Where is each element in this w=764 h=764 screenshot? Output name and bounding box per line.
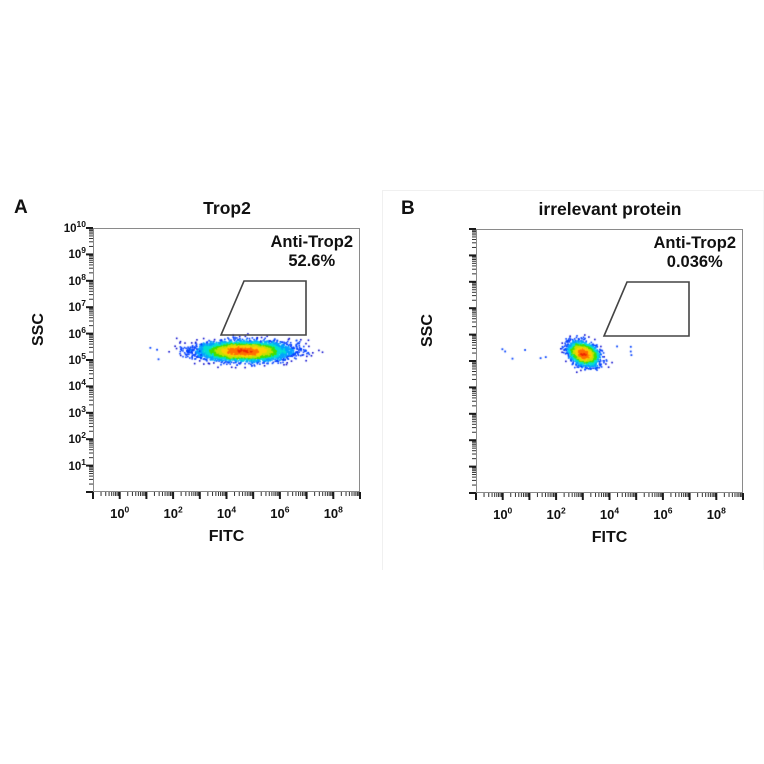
panel-b-annotation-value: 0.036% — [654, 253, 737, 272]
panel-a-annotation-label: Anti-Trop2 — [271, 233, 354, 252]
panel-a-plot-area[interactable]: Anti-Trop2 52.6% — [93, 228, 360, 492]
panel-b-plot-area[interactable]: Anti-Trop2 0.036% — [476, 229, 743, 493]
panel-a-y-axis-title: SSC — [30, 313, 48, 346]
panel-a-letter: A — [14, 197, 28, 219]
panel-b-annotation-label: Anti-Trop2 — [654, 234, 737, 253]
x-tick-label: 102 — [546, 507, 565, 522]
x-tick-label: 104 — [217, 506, 236, 521]
panel-b-y-axis-title: SSC — [419, 314, 437, 347]
panel-b-title: irrelevant protein — [476, 199, 744, 220]
x-tick-label: 102 — [163, 506, 182, 521]
x-axis-tick-marks — [0, 492, 382, 512]
panel-a-x-axis-title: FITC — [93, 528, 360, 546]
panel-a: A Trop2 1011021031041051061071081091010 … — [0, 190, 382, 570]
y-axis-tick-marks — [383, 191, 480, 503]
panel-a-annotation-value: 52.6% — [271, 252, 354, 271]
x-tick-label: 104 — [600, 507, 619, 522]
x-tick-label: 100 — [110, 506, 129, 521]
panel-b-letter: B — [401, 198, 415, 220]
panel-a-title: Trop2 — [93, 198, 361, 219]
y-axis-tick-marks — [0, 190, 97, 502]
x-tick-label: 106 — [270, 506, 289, 521]
x-tick-label: 108 — [707, 507, 726, 522]
panel-b-gate-polygon[interactable] — [604, 282, 689, 336]
panel-b: B irrelevant protein 1011021031041051061… — [382, 190, 764, 570]
panel-a-gate-polygon[interactable] — [221, 281, 306, 335]
x-tick-label: 106 — [653, 507, 672, 522]
panel-a-annotation: Anti-Trop2 52.6% — [271, 233, 354, 272]
panel-b-annotation: Anti-Trop2 0.036% — [654, 234, 737, 273]
x-tick-label: 100 — [493, 507, 512, 522]
x-tick-label: 108 — [324, 506, 343, 521]
x-axis-tick-marks — [383, 493, 764, 513]
flow-cytometry-figure: A Trop2 1011021031041051061071081091010 … — [0, 0, 764, 764]
panel-b-x-axis-title: FITC — [476, 529, 743, 547]
